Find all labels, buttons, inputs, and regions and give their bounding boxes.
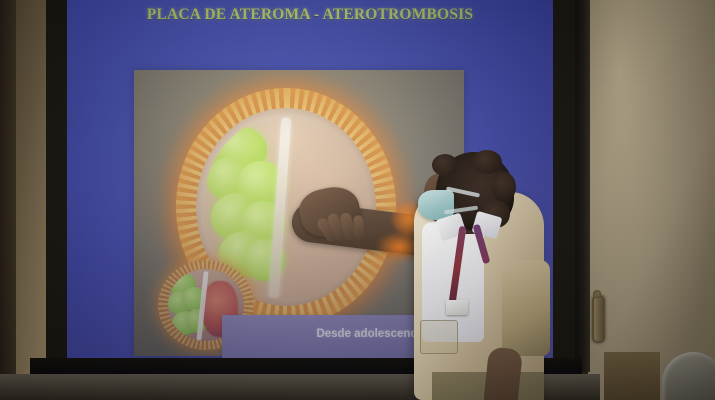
- hair-tuft: [492, 172, 516, 202]
- finger: [353, 215, 365, 240]
- id-badge: [446, 300, 468, 315]
- door-handle-screw: [593, 290, 601, 298]
- presenter-lower-arm: [483, 346, 523, 400]
- lecture-photo-scene: PLACA DE ATEROMA - ATEROTROMBOSIS: [0, 0, 715, 400]
- right-wall-shading: [588, 0, 715, 400]
- wall-panel: [604, 352, 660, 400]
- presenter: [286, 150, 586, 400]
- hair-tuft: [432, 154, 458, 176]
- door-handle[interactable]: [592, 295, 605, 343]
- shirt-pocket: [420, 320, 458, 354]
- presenter-sleeve: [502, 260, 550, 356]
- hair-tuft: [472, 150, 502, 174]
- left-wall-shadow-edge: [0, 0, 16, 400]
- slide-title: PLACA DE ATEROMA - ATEROTROMBOSIS: [67, 6, 553, 24]
